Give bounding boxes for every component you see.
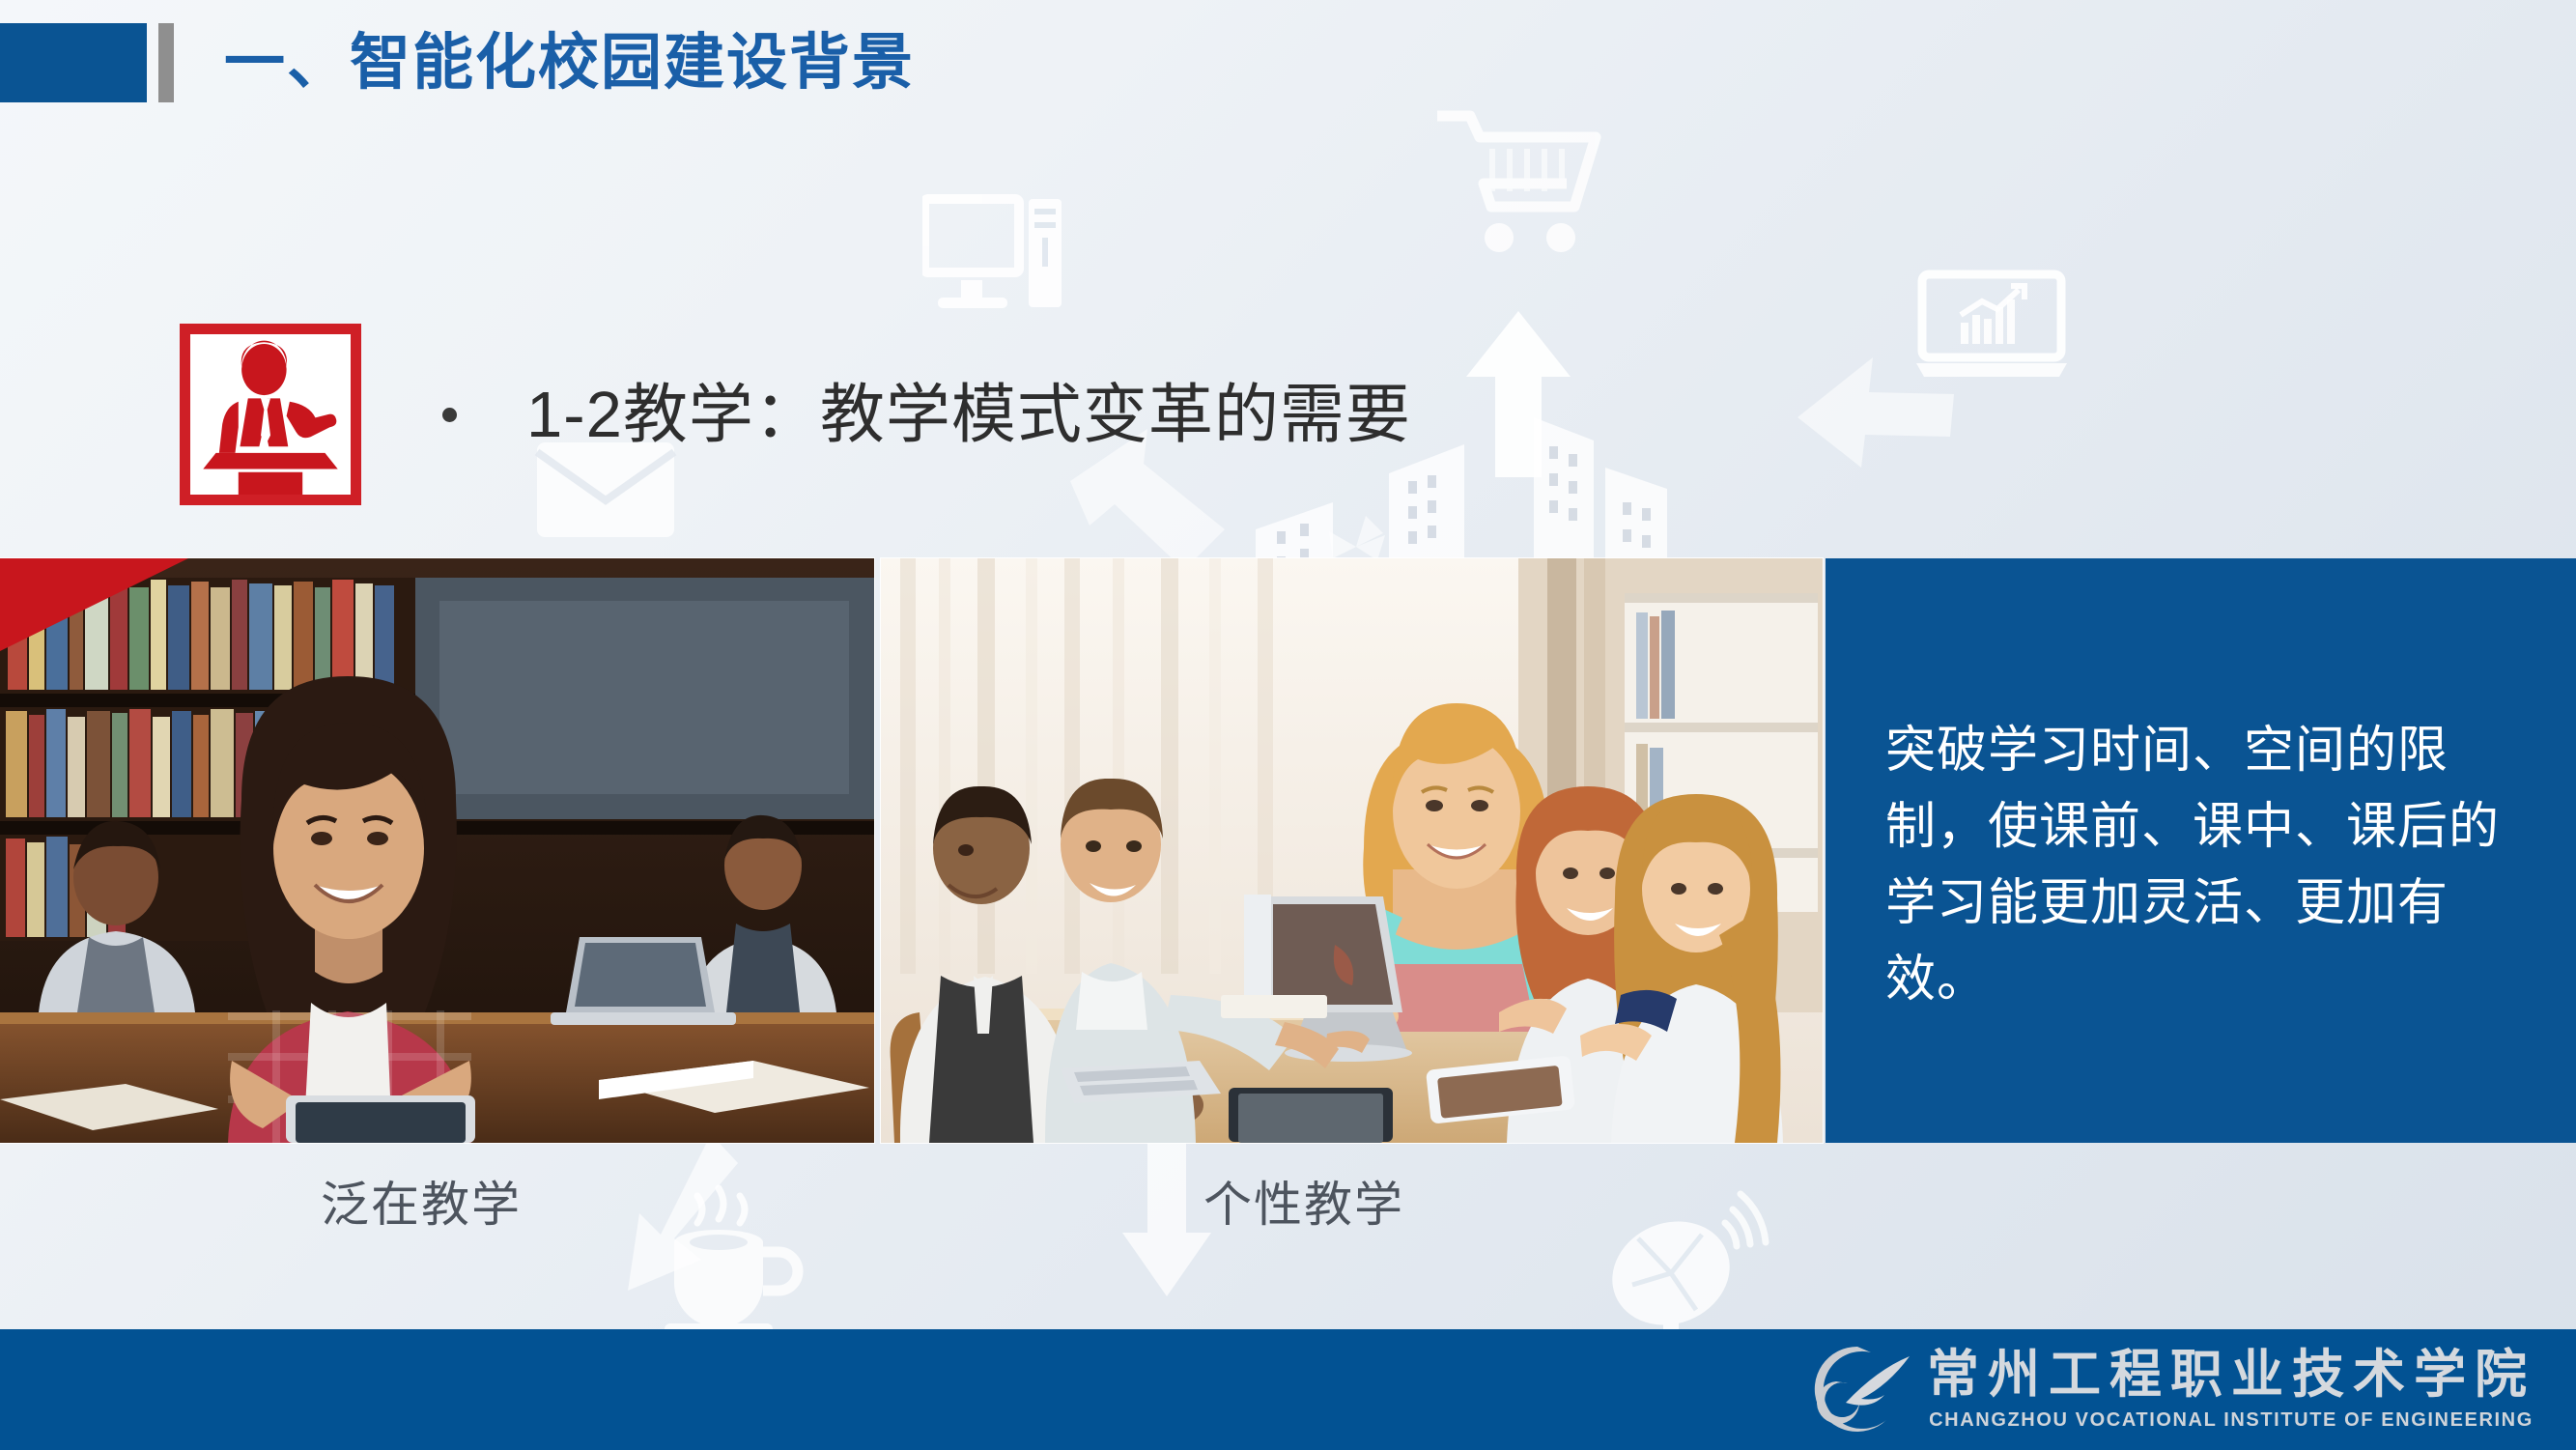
bullet-marker <box>442 408 457 422</box>
coffee-cup-icon <box>647 1179 811 1343</box>
footer-bar: 常州工程职业技术学院 CHANGZHOU VOCATIONAL INSTITUT… <box>0 1329 2576 1450</box>
callout-panel: 突破学习时间、空间的限制，使课前、课中、课后的学习能更加灵活、更加有效。 <box>1826 558 2576 1143</box>
callout-text: 突破学习时间、空间的限制，使课前、课中、课后的学习能更加灵活、更加有效。 <box>1885 713 2504 1018</box>
title-accent-block <box>0 23 147 102</box>
logo-chinese-name: 常州工程职业技术学院 <box>1927 1347 2535 1402</box>
shopping-cart-icon <box>1430 106 1613 280</box>
laptop-chart-icon <box>1914 269 2069 384</box>
slide-canvas: 一、智能化校园建设背景 1-2教学：教学模式变革的需要 <box>0 0 2576 1450</box>
classroom-teacher-students-computer-photo <box>881 558 1823 1143</box>
caption-personalized-teaching: 个性教学 <box>1203 1166 1404 1236</box>
bullet-text: 1-2教学：教学模式变革的需要 <box>526 383 1411 447</box>
institution-logo: 常州工程职业技术学院 CHANGZHOU VOCATIONAL INSTITUT… <box>1803 1343 2535 1436</box>
lecturer-podium-icon <box>180 324 361 505</box>
red-corner-accent <box>0 558 188 651</box>
logo-text-group: 常州工程职业技术学院 CHANGZHOU VOCATIONAL INSTITUT… <box>1927 1347 2535 1432</box>
desktop-computer-icon <box>922 191 1067 346</box>
bullet-row: 1-2教学：教学模式变革的需要 <box>180 324 1411 505</box>
caption-ubiquitous-teaching: 泛在教学 <box>321 1166 522 1236</box>
satellite-dish-icon <box>1588 1184 1781 1349</box>
logo-english-name: CHANGZHOU VOCATIONAL INSTITUTE OF ENGINE… <box>1929 1409 2534 1432</box>
up-arrow-icon <box>1460 307 1576 481</box>
left-arrow-icon <box>1792 348 1956 473</box>
diagonal-down-arrow-icon <box>618 1128 744 1302</box>
slide-title-bar: 一、智能化校园建设背景 <box>0 23 915 102</box>
logo-crescent-bird-icon <box>1803 1343 1911 1436</box>
down-arrow-icon <box>1118 1140 1215 1299</box>
page-title: 一、智能化校园建设背景 <box>224 23 915 102</box>
title-divider <box>158 23 174 102</box>
